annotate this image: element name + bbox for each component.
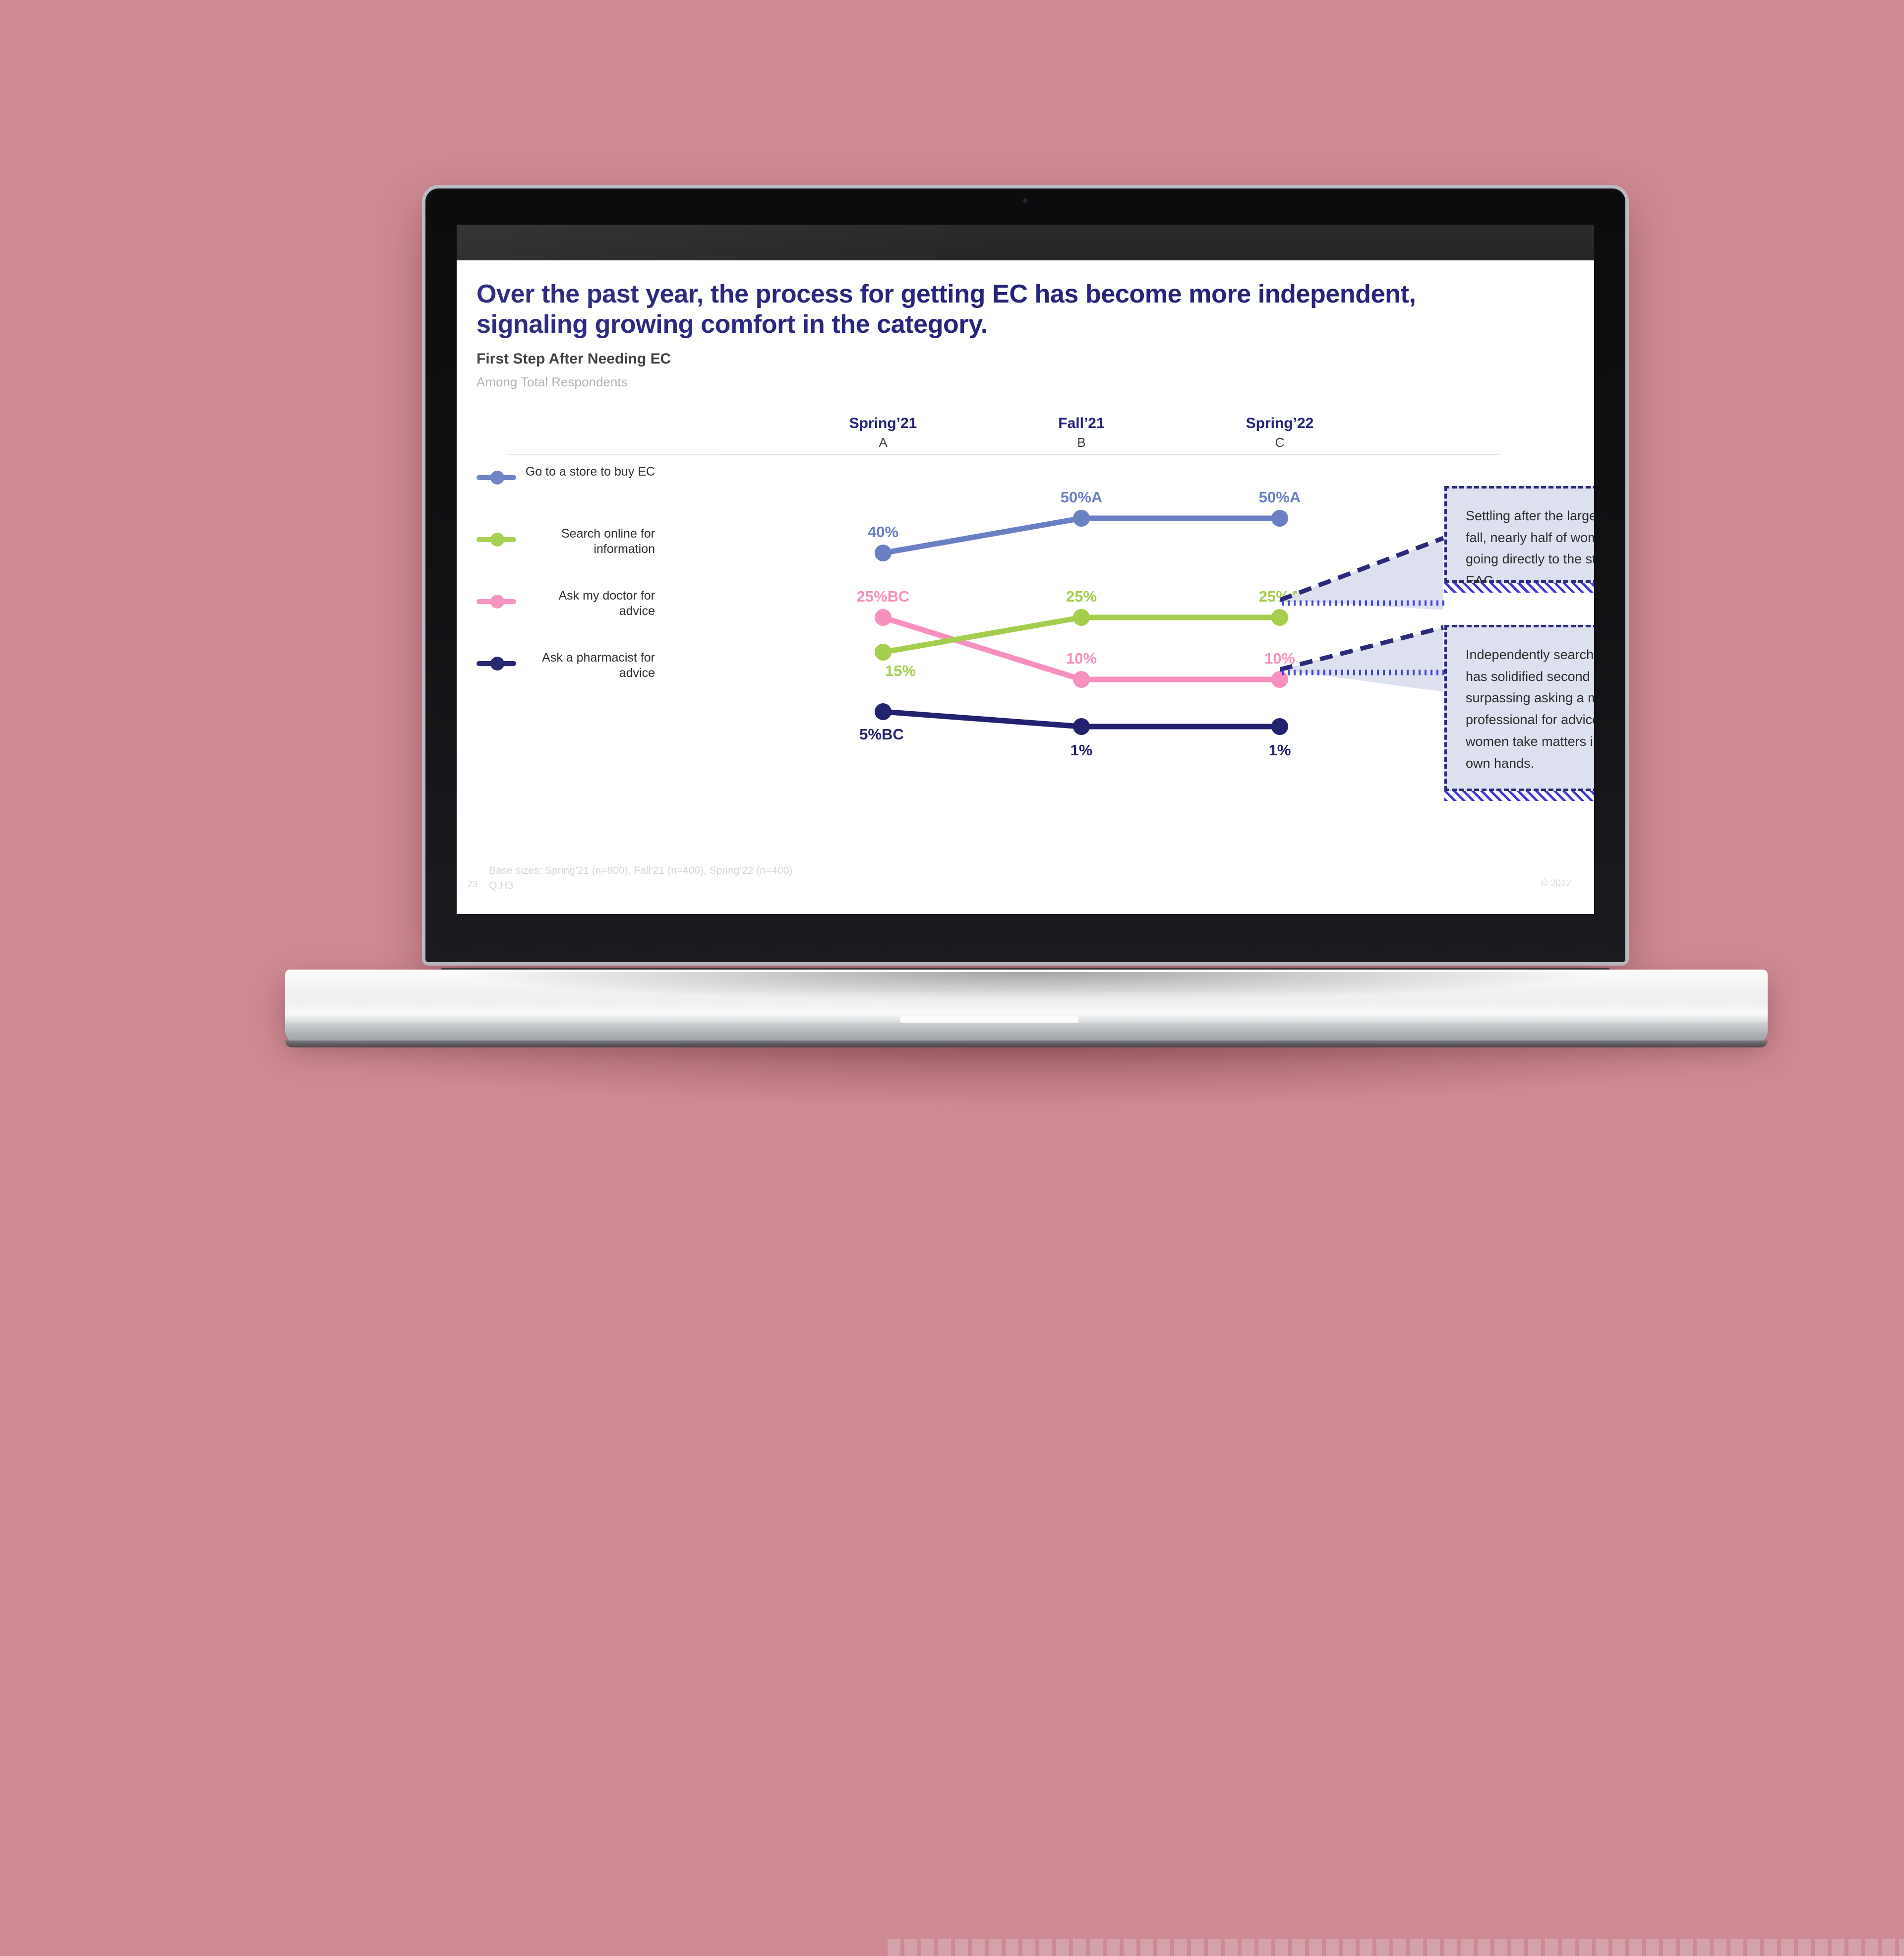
screen-top-bar (457, 225, 1594, 260)
floor-shadow (278, 1041, 1775, 1106)
data-label-store-spring22: 50%A (1220, 489, 1339, 506)
callout-online: Independently searching online has solid… (1444, 625, 1594, 791)
data-label-online-spring21: 15% (841, 662, 960, 680)
laptop-base-lip (285, 1040, 1768, 1047)
callout-store: Settling after the large spike in fall, … (1444, 486, 1594, 583)
data-label-doctor-spring21: 25%BC (824, 588, 943, 606)
laptop-screen: Over the past year, the process for gett… (457, 225, 1594, 914)
laptop-lid: Over the past year, the process for gett… (425, 188, 1625, 962)
data-label-store-fall21: 50%A (1022, 489, 1141, 506)
data-label-pharmacist-fall21: 1% (1022, 741, 1141, 759)
slide-title: Over the past year, the process for gett… (476, 279, 1498, 340)
data-label-store-spring21: 40% (824, 523, 943, 541)
data-label-doctor-fall21: 10% (1022, 650, 1141, 668)
slide-subtitle: First Step After Needing EC (476, 351, 671, 367)
presentation-slide: Over the past year, the process for gett… (457, 260, 1594, 914)
data-label-pharmacist-spring22: 1% (1220, 741, 1339, 759)
base-sizes-text: Base sizes: Spring’21 (n=800), Fall’21 (… (489, 863, 792, 878)
keyboard-keys (888, 1939, 1904, 1956)
slide-audience: Among Total Respondents (476, 374, 628, 390)
laptop-mockup: Over the past year, the process for gett… (0, 0, 1904, 1270)
callout-online-shadow-bottom (1444, 791, 1594, 801)
callout-store-shadow-bottom (1444, 583, 1594, 593)
page-number: 23 (468, 879, 477, 890)
slide-footnote: Base sizes: Spring’21 (n=800), Fall’21 (… (489, 863, 792, 894)
question-code: Q.H3 (489, 878, 792, 893)
webcam-icon (1023, 198, 1028, 203)
data-label-online-fall21: 25% (1022, 588, 1141, 606)
copyright-notice: © 2022 (1541, 878, 1571, 889)
data-label-pharmacist-spring21: 5%BC (822, 726, 941, 743)
